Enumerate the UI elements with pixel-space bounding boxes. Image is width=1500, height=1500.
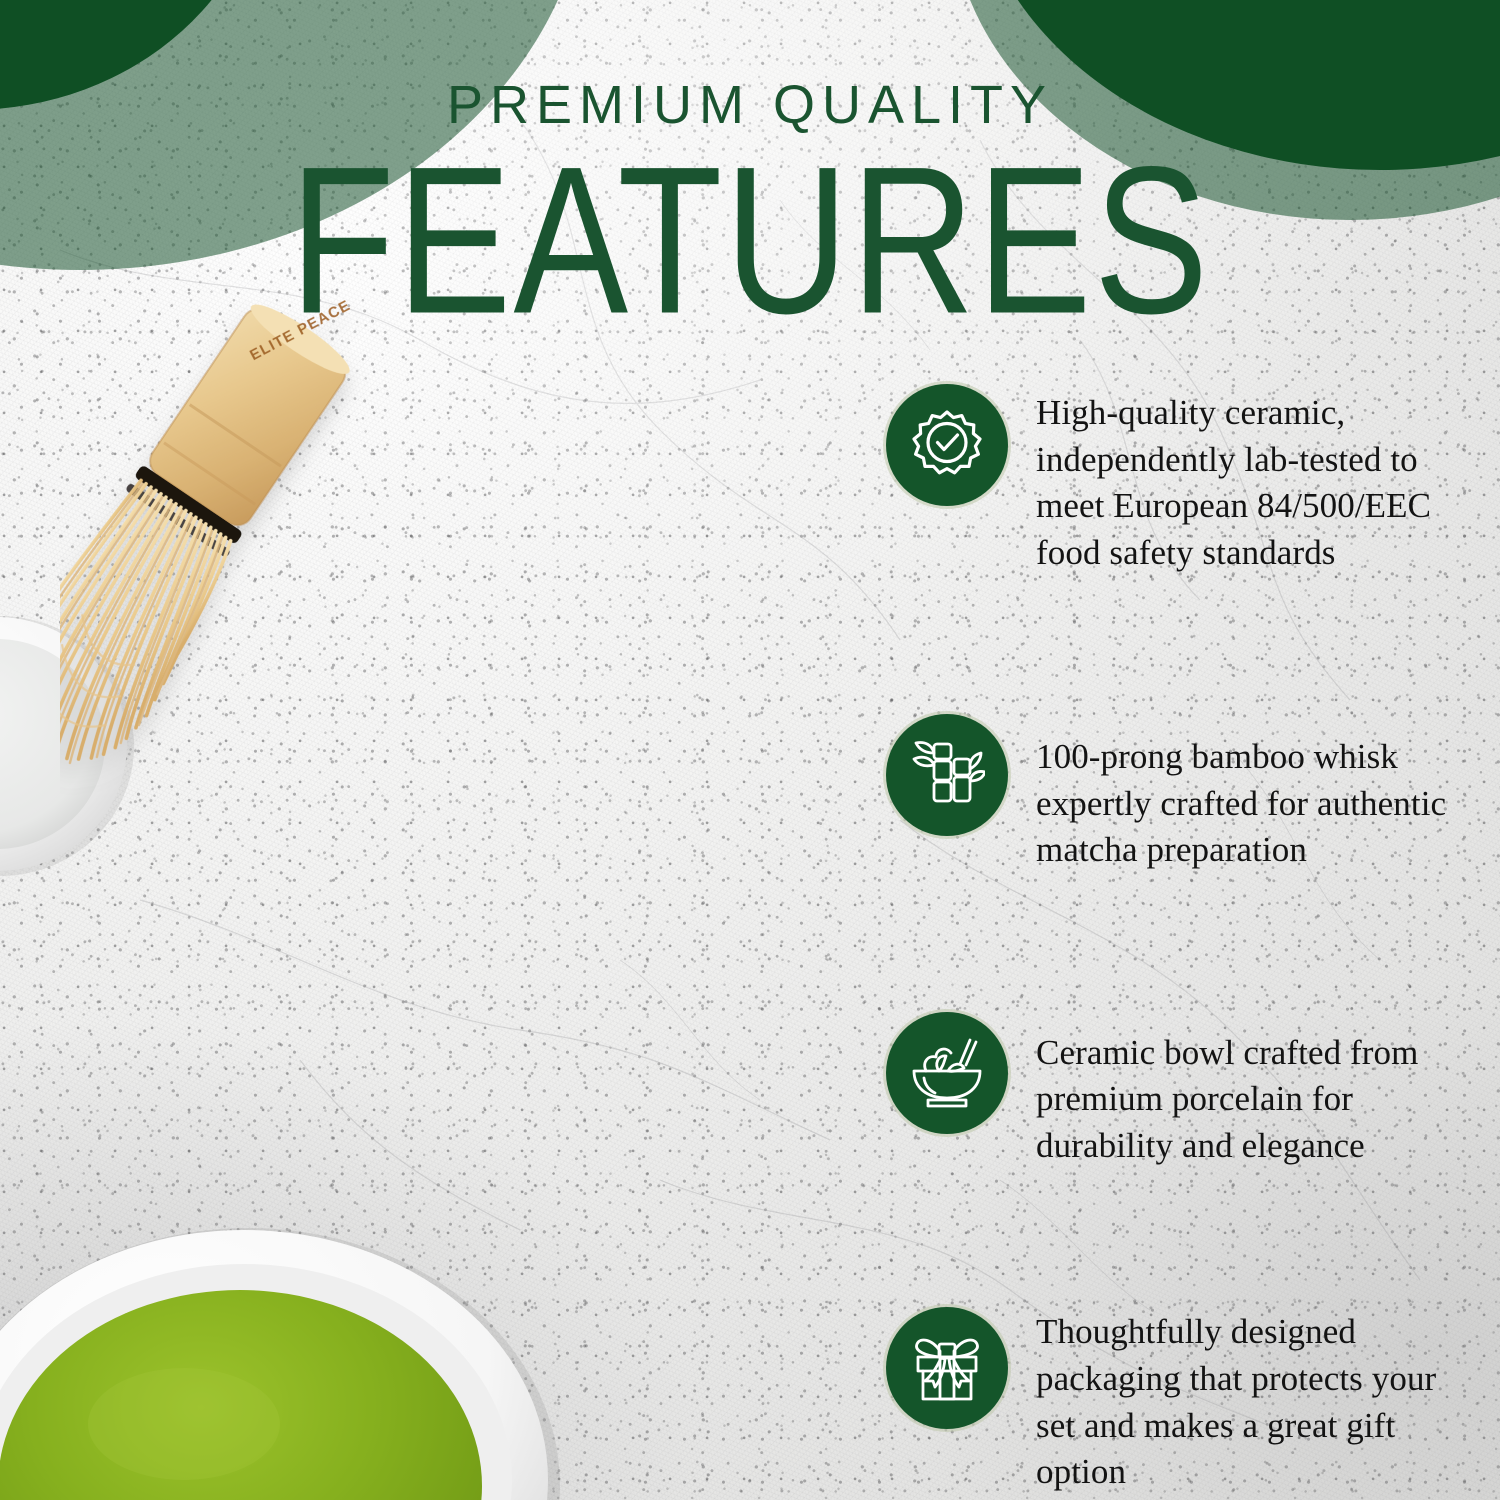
feature-text: High-quality ceramic, independently lab-… <box>1036 384 1476 576</box>
prepared-matcha-bowl <box>0 1218 588 1500</box>
feature-icon-badge <box>886 384 1008 506</box>
feature-icon-badge <box>886 1307 1008 1429</box>
feature-item: High-quality ceramic, independently lab-… <box>886 384 1476 576</box>
feature-item: Thoughtfully designed packaging that pro… <box>886 1307 1476 1495</box>
bamboo-stalks-icon <box>909 737 985 813</box>
feature-item: 100-prong bamboo whisk expertly crafted … <box>886 714 1476 874</box>
ceramic-bowl-chopsticks-icon <box>908 1034 986 1112</box>
bamboo-matcha-whisk: ELITE PEACE <box>60 300 780 920</box>
feature-text: Thoughtfully designed packaging that pro… <box>1036 1307 1476 1495</box>
product-features-infographic: PREMIUM QUALITY FEATURES <box>0 0 1500 1500</box>
feature-text: 100-prong bamboo whisk expertly crafted … <box>1036 714 1476 874</box>
feature-text: Ceramic bowl crafted from premium porcel… <box>1036 1012 1476 1170</box>
feature-item: Ceramic bowl crafted from premium porcel… <box>886 1012 1476 1170</box>
gift-box-bow-icon <box>908 1329 986 1407</box>
feature-icon-badge <box>886 1012 1008 1134</box>
feature-icon-badge <box>886 714 1008 836</box>
features-list: High-quality ceramic, independently lab-… <box>886 384 1476 1496</box>
quality-seal-check-icon <box>909 407 985 483</box>
